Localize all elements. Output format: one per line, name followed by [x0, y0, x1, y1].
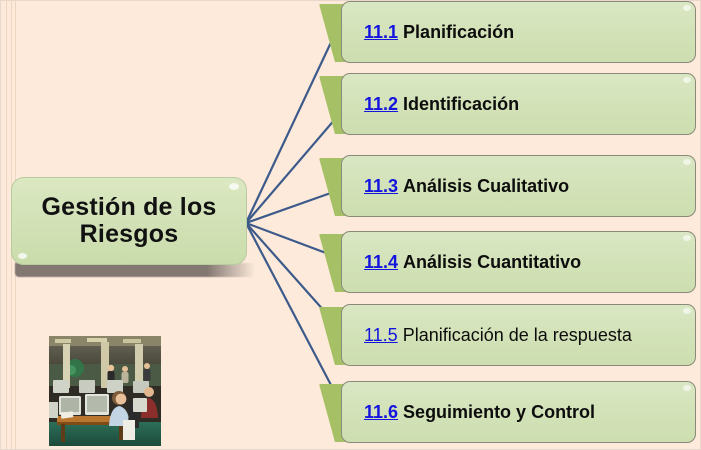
- branch-number-2[interactable]: 11.2: [364, 94, 398, 114]
- branch-label-5: 11.5Planificación de la respuesta: [364, 325, 632, 346]
- branch-box-6[interactable]: 11.6Seguimiento y Control: [341, 381, 696, 443]
- branch-number-4[interactable]: 11.4: [364, 252, 398, 272]
- branch-box-5[interactable]: 11.5Planificación de la respuesta: [341, 304, 696, 366]
- branch-title-5: Planificación de la respuesta: [403, 325, 632, 345]
- branch-label-1: 11.1Planificación: [364, 22, 514, 43]
- branch-title-2: Identificación: [403, 94, 519, 114]
- guide-line-left-1: [6, 1, 7, 449]
- central-node-shadow: [15, 263, 255, 277]
- branch-number-5[interactable]: 11.5: [364, 325, 398, 345]
- branch-number-6[interactable]: 11.6: [364, 402, 398, 422]
- branch-box-1[interactable]: 11.1Planificación: [341, 1, 696, 63]
- branch-number-3[interactable]: 11.3: [364, 176, 398, 196]
- branch-label-4: 11.4Análisis Cuantitativo: [364, 252, 581, 273]
- branch-node-2[interactable]: 11.2Identificación: [319, 73, 696, 136]
- mindmap-canvas: Gestión de los Riesgos 11.1Planificación…: [0, 0, 701, 450]
- office-photo: [49, 336, 161, 446]
- branch-number-1[interactable]: 11.1: [364, 22, 398, 42]
- branch-label-3: 11.3Análisis Cualitativo: [364, 176, 569, 197]
- branch-title-4: Análisis Cuantitativo: [403, 252, 581, 272]
- branch-title-1: Planificación: [403, 22, 514, 42]
- branch-box-4[interactable]: 11.4Análisis Cuantitativo: [341, 231, 696, 293]
- branch-node-5[interactable]: 11.5Planificación de la respuesta: [319, 304, 696, 367]
- central-node[interactable]: Gestión de los Riesgos: [11, 177, 247, 265]
- branch-box-3[interactable]: 11.3Análisis Cualitativo: [341, 155, 696, 217]
- branch-title-3: Análisis Cualitativo: [403, 176, 569, 196]
- branch-node-6[interactable]: 11.6Seguimiento y Control: [319, 381, 696, 444]
- central-node-label: Gestión de los Riesgos: [41, 194, 216, 248]
- branch-node-4[interactable]: 11.4Análisis Cuantitativo: [319, 231, 696, 294]
- branch-node-1[interactable]: 11.1Planificación: [319, 1, 696, 64]
- branch-label-6: 11.6Seguimiento y Control: [364, 402, 595, 423]
- branch-title-6: Seguimiento y Control: [403, 402, 595, 422]
- gloss-highlight-secondary-icon: [18, 253, 27, 259]
- branch-node-3[interactable]: 11.3Análisis Cualitativo: [319, 155, 696, 218]
- gloss-highlight-icon: [229, 183, 239, 190]
- branch-box-2[interactable]: 11.2Identificación: [341, 73, 696, 135]
- branch-label-2: 11.2Identificación: [364, 94, 519, 115]
